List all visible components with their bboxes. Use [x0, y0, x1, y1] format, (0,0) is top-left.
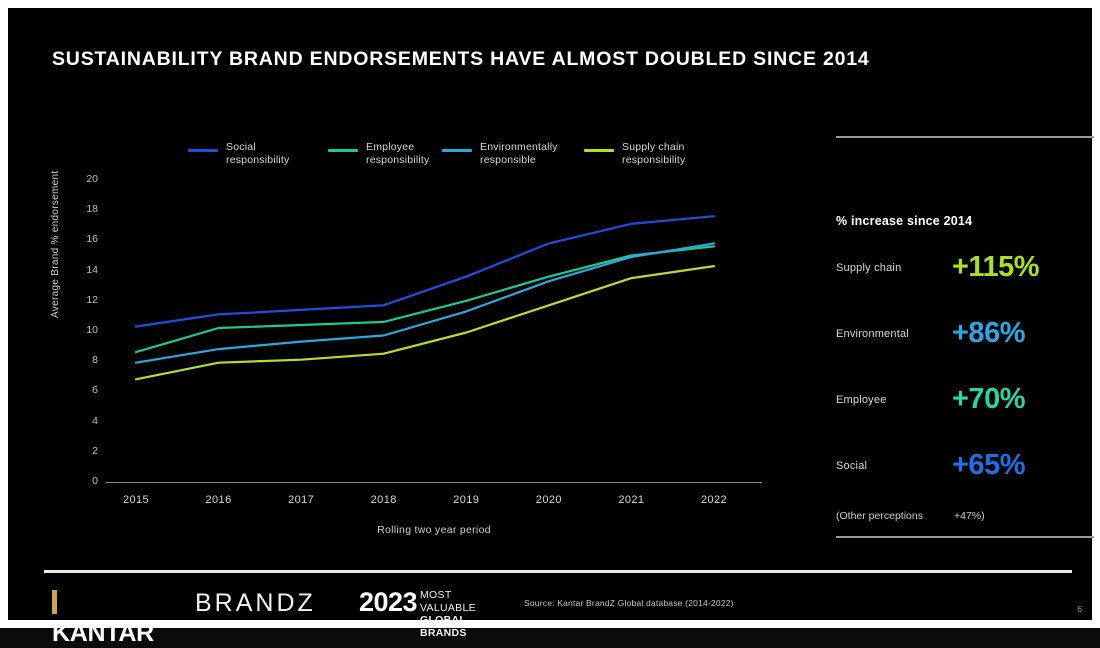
summary-value-employee: +70%: [952, 382, 1025, 416]
summary-row-supply-chain: Supply chain +115%: [836, 250, 1094, 296]
kantar-wordmark: KANTAR: [52, 619, 154, 647]
page-number: 6: [1077, 604, 1082, 614]
summary-row-social: Social +65%: [836, 448, 1094, 494]
chart-series-svg: [52, 158, 782, 548]
summary-value-supply-chain: +115%: [952, 250, 1039, 284]
footer-tagline-line2: GLOBAL BRANDS: [420, 614, 467, 639]
series-line-environmentally-responsible: [136, 243, 714, 362]
summary-label-environmental: Environmental: [836, 328, 909, 340]
brandz-wordmark: BRANDZ: [195, 588, 316, 618]
increase-summary-panel: % increase since 2014 Supply chain +115%…: [836, 136, 1098, 548]
legend-swatch-social: [188, 149, 218, 152]
legend-swatch-supply-chain: [584, 149, 614, 152]
chart-plot-area: [52, 158, 782, 548]
summary-label-supply-chain: Supply chain: [836, 262, 901, 274]
panel-divider-bottom: [836, 536, 1094, 538]
slide-content: SUSTAINABILITY BRAND ENDORSEMENTS HAVE A…: [8, 8, 1092, 620]
line-chart: Average Brand % endorsement 024681012141…: [52, 158, 782, 548]
summary-row-environmental: Environmental +86%: [836, 316, 1094, 362]
summary-label-employee: Employee: [836, 394, 887, 406]
summary-value-social: +65%: [952, 448, 1025, 482]
series-line-employee-responsibility: [136, 246, 714, 352]
footer-divider: [44, 570, 1072, 573]
summary-value-environmental: +86%: [952, 316, 1025, 350]
summary-value-other: +47%): [954, 510, 985, 522]
summary-row-employee: Employee +70%: [836, 382, 1094, 428]
kantar-accent-bar: [52, 590, 57, 614]
panel-title: % increase since 2014: [836, 214, 972, 228]
summary-label-other: (Other perceptions: [836, 510, 923, 522]
source-note: Source: Kantar BrandZ Global database (2…: [524, 598, 734, 608]
footer-year: 2023: [359, 587, 417, 618]
legend-swatch-employee: [328, 149, 358, 152]
page-title: SUSTAINABILITY BRAND ENDORSEMENTS HAVE A…: [52, 48, 870, 71]
slide: SUSTAINABILITY BRAND ENDORSEMENTS HAVE A…: [0, 0, 1100, 628]
panel-divider-top: [836, 136, 1094, 138]
kantar-logo: KANTAR: [52, 588, 154, 648]
summary-label-social: Social: [836, 460, 867, 472]
series-line-social-responsibility: [136, 216, 714, 326]
footer-tagline: MOST VALUABLEGLOBAL BRANDS: [420, 589, 476, 639]
footer-tagline-line1: MOST VALUABLE: [420, 589, 476, 614]
legend-swatch-environmental: [442, 149, 472, 152]
